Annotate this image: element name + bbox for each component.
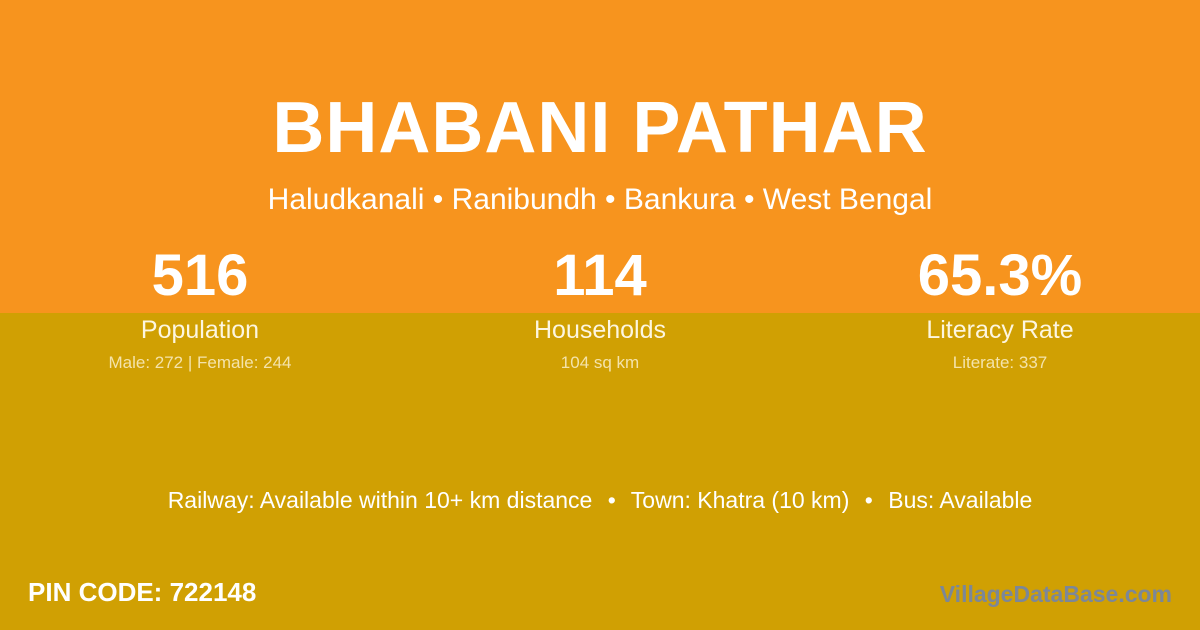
breadcrumb: Haludkanali • Ranibundh • Bankura • West… <box>0 180 1200 220</box>
infra-bus: Bus: Available <box>888 487 1032 513</box>
infra-town: Town: Khatra (10 km) <box>631 487 850 513</box>
stat-households: 114 Households 104 sq km <box>400 240 800 374</box>
infrastructure-line: Railway: Available within 10+ km distanc… <box>0 483 1200 517</box>
footer-bar: PIN CODE: 722148 VillageDataBase.com <box>0 568 1200 630</box>
infra-railway: Railway: Available within 10+ km distanc… <box>168 487 593 513</box>
page-title: BHABANI PATHAR <box>0 86 1200 170</box>
stat-subtext: 104 sq km <box>400 352 800 374</box>
bullet-separator-icon: • <box>856 483 882 517</box>
stat-value: 114 <box>400 240 800 312</box>
village-info-card: BHABANI PATHAR Haludkanali • Ranibundh •… <box>0 0 1200 630</box>
brand-watermark: VillageDataBase.com <box>940 578 1172 610</box>
stat-subtext: Literate: 337 <box>800 352 1200 374</box>
stats-row: 516 Population Male: 272 | Female: 244 1… <box>0 240 1200 374</box>
stat-label: Literacy Rate <box>800 314 1200 346</box>
pin-code: PIN CODE: 722148 <box>28 574 256 610</box>
stat-value: 65.3% <box>800 240 1200 312</box>
stat-value: 516 <box>0 240 400 312</box>
bullet-separator-icon: • <box>599 483 625 517</box>
stat-subtext: Male: 272 | Female: 244 <box>0 352 400 374</box>
stat-literacy-rate: 65.3% Literacy Rate Literate: 337 <box>800 240 1200 374</box>
stat-label: Population <box>0 314 400 346</box>
stat-population: 516 Population Male: 272 | Female: 244 <box>0 240 400 374</box>
stat-label: Households <box>400 314 800 346</box>
